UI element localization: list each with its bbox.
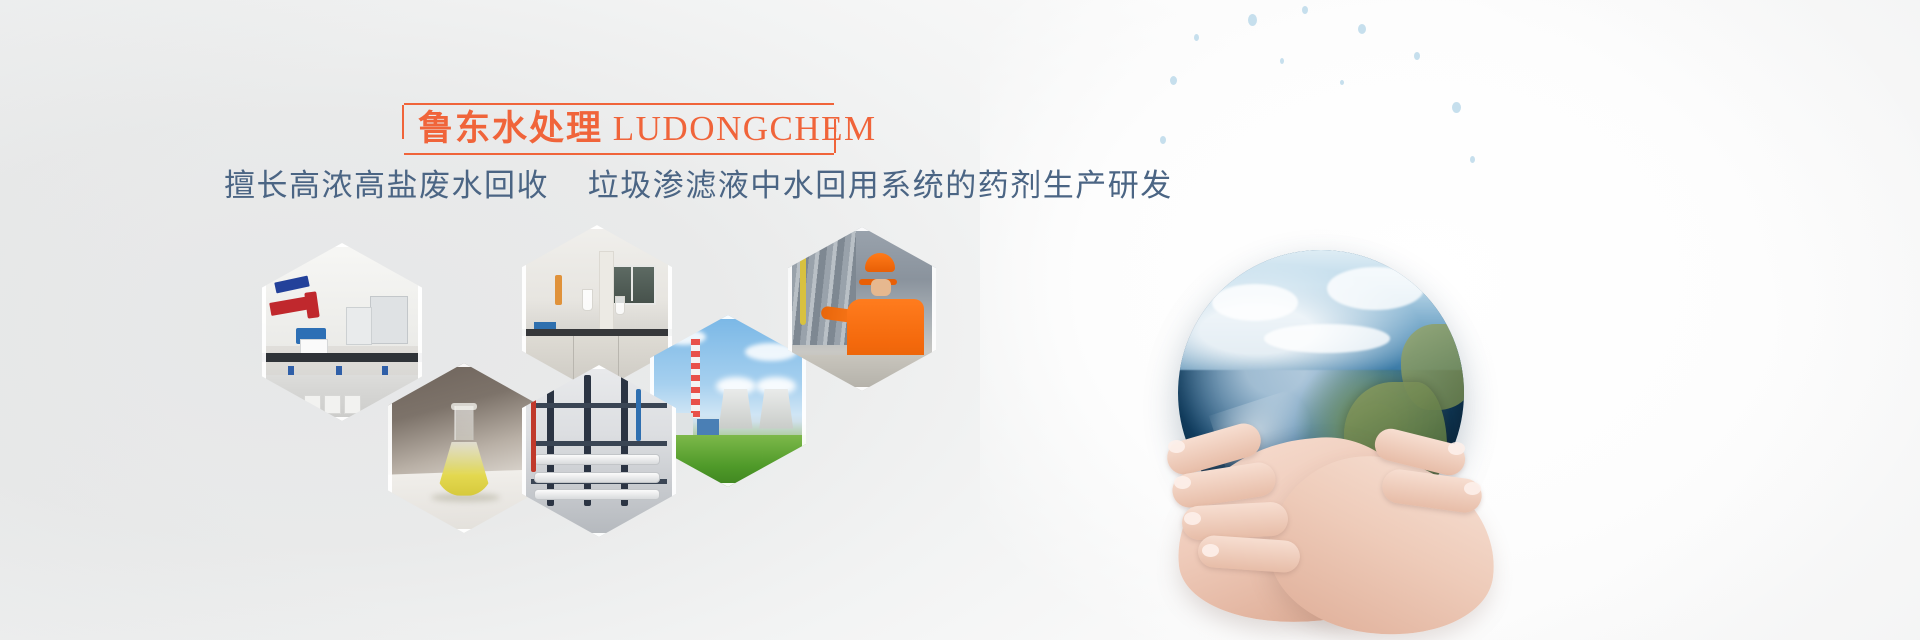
- hero-water-globe: [1060, 0, 1580, 640]
- hex-photo-collage: [240, 215, 960, 525]
- hex-photo-yellow-flask: [388, 363, 540, 533]
- brand-name-cn: 鲁东水处理: [418, 109, 603, 148]
- hex-photo-worker: [788, 227, 936, 391]
- brand-name-en: LUDONGCHEM: [613, 109, 877, 148]
- hero-banner: 鲁东水处理 LUDONGCHEM 擅长高浓高盐废水回收 垃圾渗滤液中水回用系统的…: [0, 0, 1920, 640]
- hands-icon: [1142, 396, 1514, 640]
- subtitle-part-1: 擅长高浓高盐废水回收: [224, 168, 549, 204]
- hex-photo-laboratory-room: [262, 243, 422, 421]
- brand-title-block: 鲁东水处理 LUDONGCHEM: [404, 103, 834, 155]
- page-title: 鲁东水处理 LUDONGCHEM: [418, 104, 877, 154]
- bracket-left-icon: [402, 105, 417, 139]
- brand-subtitle: 擅长高浓高盐废水回收 垃圾渗滤液中水回用系统的药剂生产研发: [224, 160, 1173, 205]
